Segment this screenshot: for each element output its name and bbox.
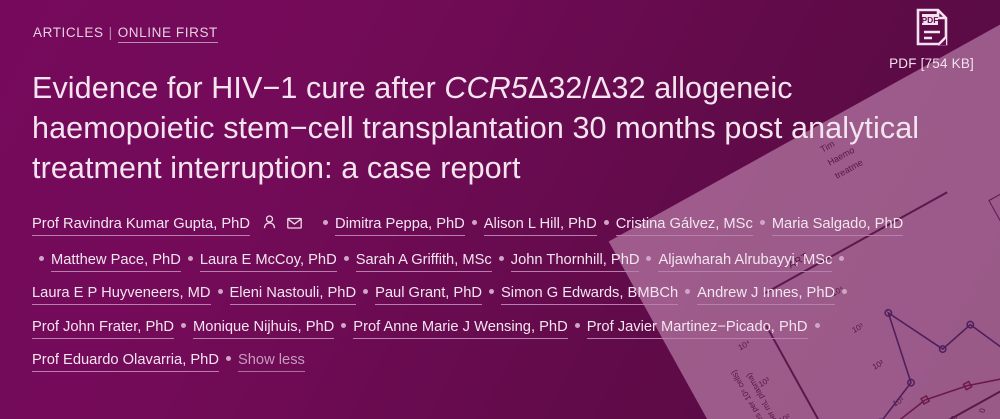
author-link[interactable]: Paul Grant, PhD: [375, 285, 482, 305]
author-contact-icons: [263, 209, 313, 243]
author-separator-bullet: [499, 256, 504, 261]
author-link[interactable]: Matthew Pace, PhD: [51, 252, 181, 272]
author-link[interactable]: John Thornhill, PhD: [511, 252, 640, 272]
author-link[interactable]: Dimitra Peppa, PhD: [335, 216, 465, 236]
author-link[interactable]: Laura E McCoy, PhD: [200, 252, 337, 272]
page-title: Evidence for HIV−1 cure after CCR5Δ32/Δ3…: [32, 68, 922, 188]
figure-ytick-right-3: 10¹: [891, 395, 905, 408]
author-link[interactable]: Cristina Gálvez, MSc: [616, 216, 753, 236]
author-separator-bullet: [39, 256, 44, 261]
author-separator-bullet: [341, 323, 346, 328]
figure-ytick-1: 10³: [757, 376, 771, 389]
author-link[interactable]: Sarah A Griffith, MSc: [356, 252, 492, 272]
pdf-file-icon[interactable]: PDF: [915, 8, 949, 46]
author-link[interactable]: Alison L Hill, PhD: [484, 216, 597, 236]
pdf-download-label[interactable]: PDF [754 KB]: [889, 56, 974, 71]
author-link[interactable]: Laura E P Huyveneers, MD: [32, 285, 211, 305]
title-gene-name: CCR5: [444, 71, 527, 105]
author-separator-bullet: [323, 220, 328, 225]
envelope-icon[interactable]: [287, 209, 302, 243]
author-list: Prof Ravindra Kumar Gupta, PhD Dimitra P…: [32, 208, 912, 378]
author-link[interactable]: Prof John Frater, PhD: [32, 319, 174, 339]
svg-text:PDF: PDF: [921, 15, 938, 25]
author-separator-bullet: [489, 289, 494, 294]
author-separator-bullet: [760, 220, 765, 225]
figure-legend-box: [988, 159, 1000, 237]
author-link[interactable]: Eleni Nastouli, PhD: [230, 285, 357, 305]
author-link[interactable]: Andrew J Innes, PhD: [697, 285, 835, 305]
author-separator-bullet: [344, 256, 349, 261]
figure-ytick-2: 10²: [777, 412, 791, 419]
breadcrumb: ARTICLES|ONLINE FIRST: [33, 25, 218, 40]
article-hero-banner: Tim Haemo treatme ART HIV−1 DNA (copies …: [0, 0, 1000, 419]
pdf-download-block[interactable]: PDF PDF [754 KB]: [889, 8, 974, 71]
author-separator-bullet: [188, 256, 193, 261]
author-link[interactable]: Simon G Edwards, BMBCh: [501, 285, 678, 305]
figure-xtick-3: 0: [978, 408, 988, 414]
author-link[interactable]: Prof Ravindra Kumar Gupta, PhD: [32, 216, 250, 236]
author-link[interactable]: Prof Eduardo Olavarria, PhD: [32, 352, 219, 372]
author-separator-bullet: [604, 220, 609, 225]
show-less-toggle[interactable]: Show less: [238, 352, 305, 372]
title-text-before: Evidence for HIV−1 cure after: [32, 71, 444, 105]
author-separator-bullet: [218, 289, 223, 294]
author-link[interactable]: Aljawharah Alrubayyi, MSc: [658, 252, 832, 272]
author-separator-bullet: [815, 323, 820, 328]
author-separator-bullet: [842, 289, 847, 294]
person-icon[interactable]: [263, 209, 276, 243]
author-separator-bullet: [575, 323, 580, 328]
breadcrumb-separator: |: [109, 25, 113, 40]
author-separator-bullet: [685, 289, 690, 294]
author-link[interactable]: Prof Anne Marie J Wensing, PhD: [353, 319, 567, 339]
author-link[interactable]: Prof Javier Martinez−Picado, PhD: [587, 319, 808, 339]
author-separator-bullet: [472, 220, 477, 225]
breadcrumb-online-first-link[interactable]: ONLINE FIRST: [118, 25, 218, 43]
author-separator-bullet: [226, 356, 231, 361]
author-link[interactable]: Monique Nijhuis, PhD: [193, 319, 334, 339]
author-separator-bullet: [363, 289, 368, 294]
author-separator-bullet: [646, 256, 651, 261]
figure-xtick-2: −22: [948, 415, 959, 419]
author-link[interactable]: Maria Salgado, PhD: [772, 216, 903, 236]
author-separator-bullet: [839, 256, 844, 261]
author-separator-bullet: [181, 323, 186, 328]
breadcrumb-section[interactable]: ARTICLES: [33, 25, 104, 40]
